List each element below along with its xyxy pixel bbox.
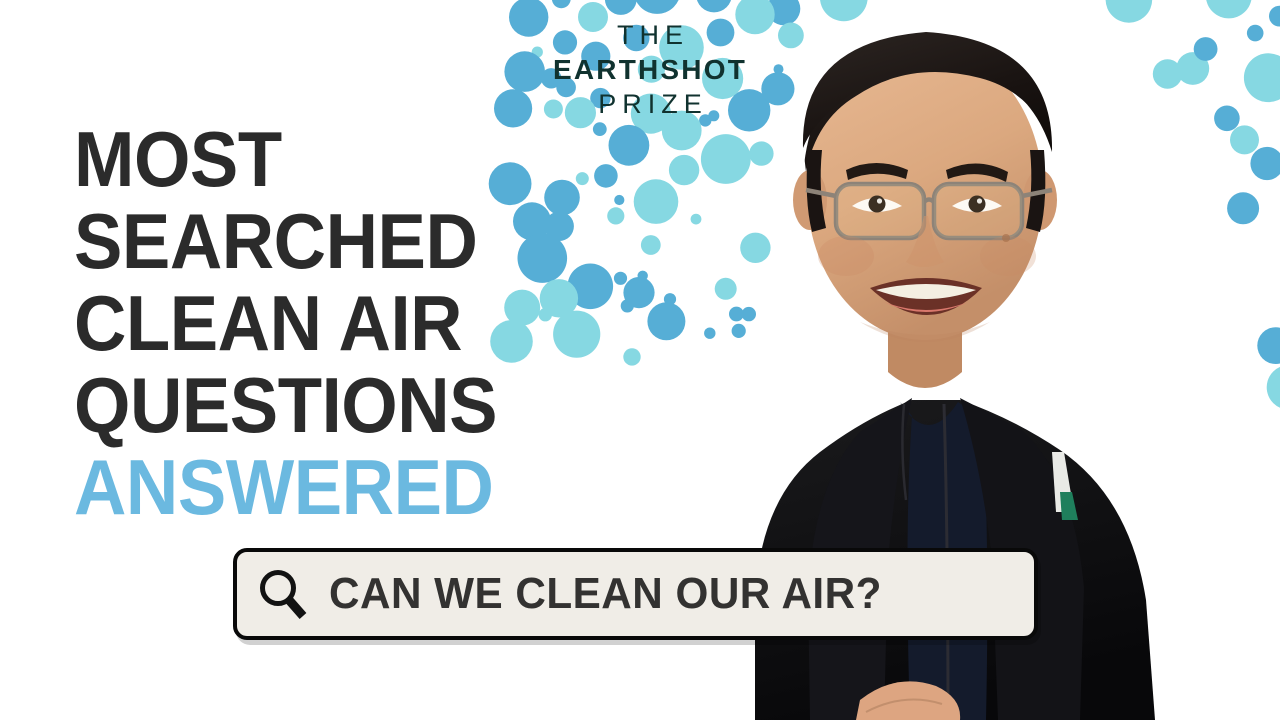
logo-line-the: THE: [545, 22, 755, 49]
earthshot-prize-logo: THE EARTHSHOT PRIZE: [545, 22, 755, 118]
search-bar[interactable]: CAN WE CLEAN OUR AIR?: [233, 548, 1038, 640]
logo-line-earthshot: EARTHSHOT: [545, 56, 755, 84]
logo-line-prize: PRIZE: [545, 91, 755, 118]
headline-line-1: MOST: [74, 118, 497, 200]
search-icon: [237, 567, 329, 621]
headline-line-2: SEARCHED: [74, 200, 497, 282]
video-thumbnail: THE EARTHSHOT PRIZE MOST SEARCHED CLEAN …: [0, 0, 1280, 720]
headline-line-5-answered: ANSWERED: [74, 446, 497, 528]
headline-line-3: CLEAN AIR: [74, 282, 497, 364]
headline-line-4: QUESTIONS: [74, 364, 497, 446]
headline-block: MOST SEARCHED CLEAN AIR QUESTIONS ANSWER…: [74, 118, 529, 528]
search-query-text: CAN WE CLEAN OUR AIR?: [329, 569, 1006, 619]
